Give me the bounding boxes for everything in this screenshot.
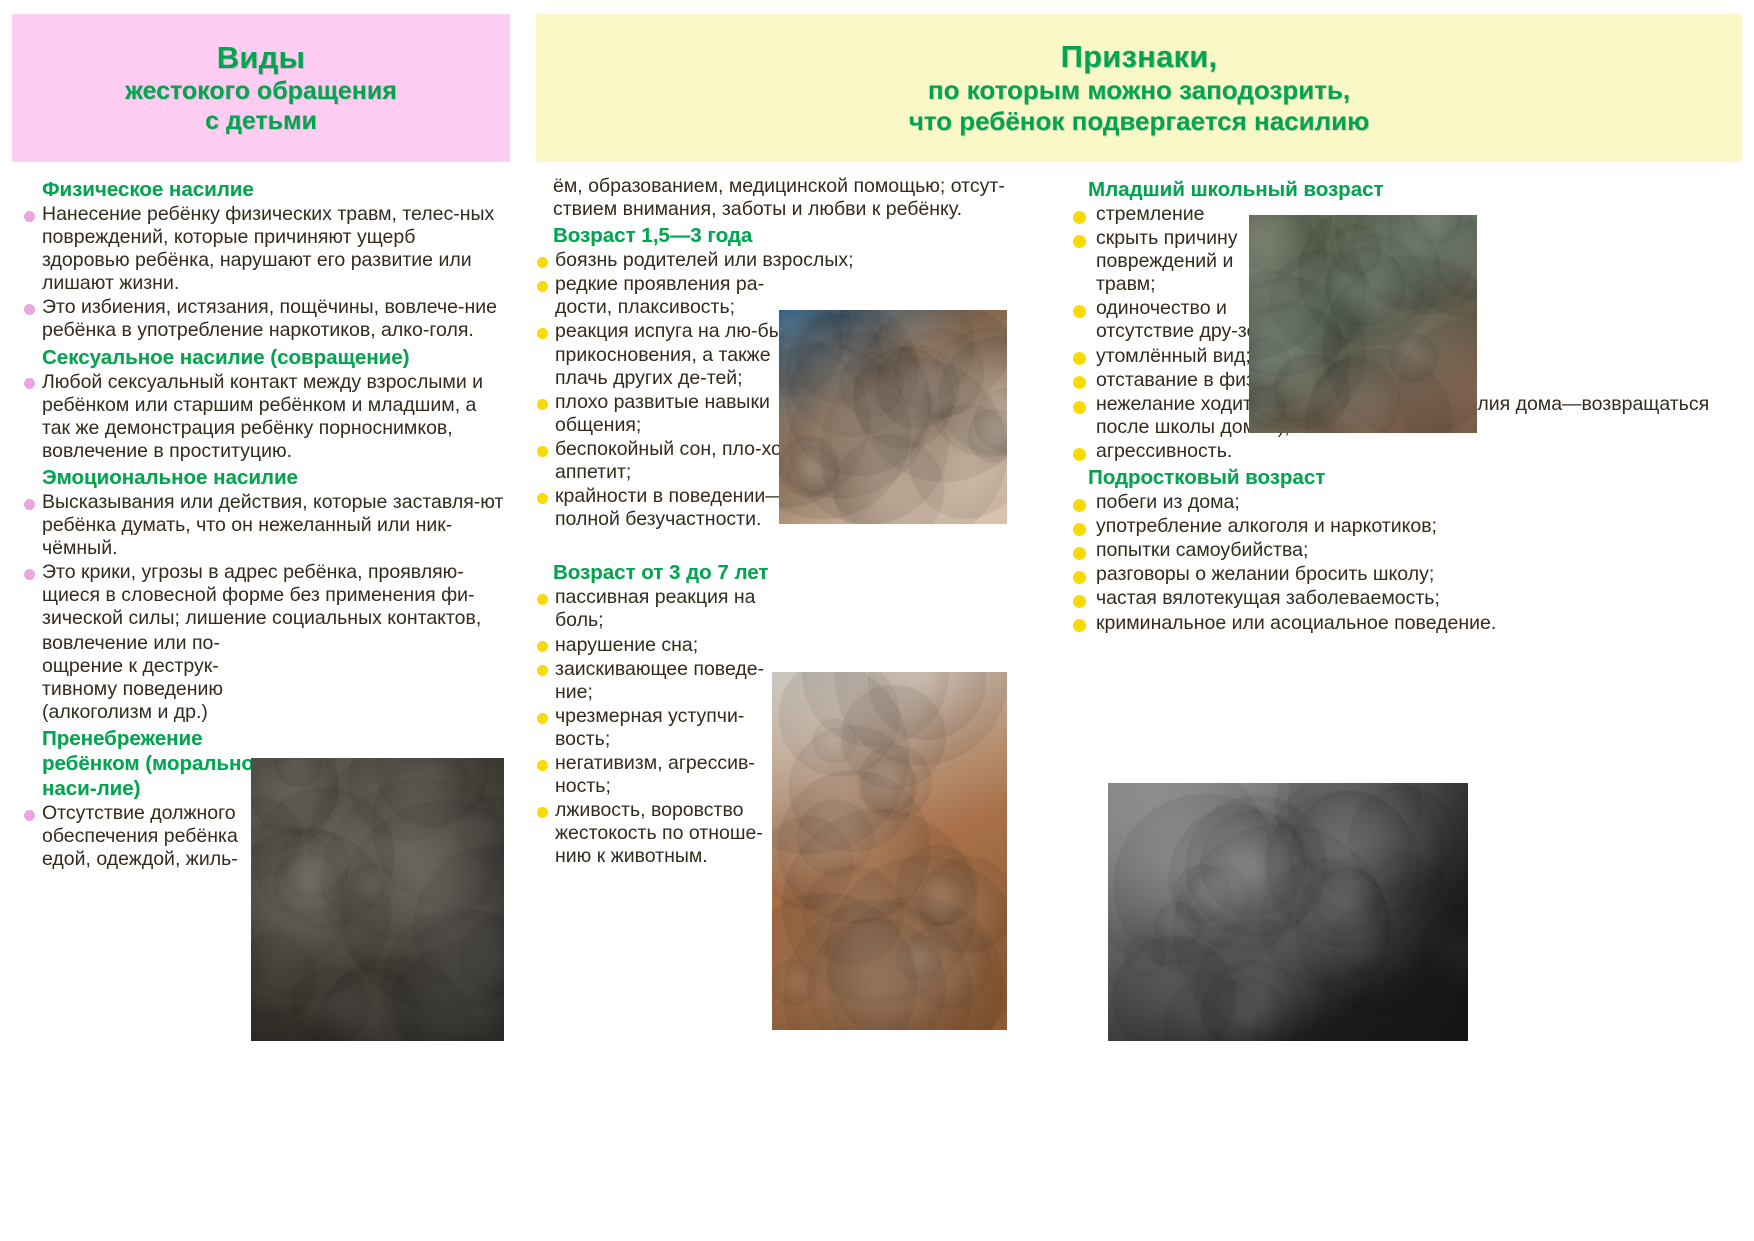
list-item-text: беспокойный сон, пло-хой аппетит;: [555, 438, 793, 483]
header-left-line1: Виды: [217, 40, 305, 76]
list-item-text: Это избиения, истязания, пощёчины, вовле…: [42, 296, 497, 341]
list-item: Нанесение ребёнку физических травм, теле…: [24, 203, 504, 295]
list-item-text: частая вялотекущая заболеваемость;: [1096, 587, 1440, 609]
list-item-text: плохо развитые навыки общения;: [555, 391, 770, 436]
bullet-dot-icon: [24, 211, 35, 222]
bullet-dot-icon: [537, 328, 548, 339]
bullet-dot-icon: [1073, 401, 1086, 414]
bullet-dot-icon: [1073, 499, 1086, 512]
bullet-dot-icon: [537, 446, 548, 457]
bullet-dot-icon: [537, 760, 548, 771]
list-item: Отсутствие должного обеспечения ребёнка …: [24, 802, 256, 871]
list-item: криминальное или асоциальное поведение.: [1070, 612, 1742, 635]
list-item-text: Отсутствие должного обеспечения ребёнка …: [42, 802, 238, 870]
list-item: Это избиения, истязания, пощёчины, вовле…: [24, 296, 504, 342]
list-item: Высказывания или действия, которые заста…: [24, 491, 504, 560]
list-item-text: Высказывания или действия, которые заста…: [42, 491, 503, 559]
photo-girl-face-closeup: [779, 310, 1007, 524]
list-item-text: Это крики, угрозы в адрес ребёнка, прояв…: [42, 561, 481, 629]
list-item-text: побеги из дома;: [1096, 491, 1240, 513]
list-item: реакция испуга на лю-бые прикосновения, …: [537, 320, 807, 389]
header-left-line3: с детьми: [205, 106, 317, 136]
section-title-teen-age: Подростковый возраст: [1088, 465, 1742, 490]
list-item: пассивная реакция на боль;: [537, 586, 789, 632]
header-right-line2: по которым можно заподозрить,: [928, 75, 1350, 106]
bullet-dot-icon: [537, 594, 548, 605]
list-item: негативизм, агрессив-ность;: [537, 752, 789, 798]
list-item: боязнь родителей или взрослых;: [537, 249, 1007, 272]
list-emotional-abuse: Высказывания или действия, которые заста…: [24, 491, 504, 631]
list-item-text: одиночество и отсутствие дру-зей;: [1096, 297, 1274, 342]
bullet-dot-icon: [537, 665, 548, 676]
list-neglect: Отсутствие должного обеспечения ребёнка …: [24, 802, 256, 871]
header-panel-signs: Признаки, по которым можно заподозрить, …: [536, 14, 1742, 162]
section-title-age-3-to-7: Возраст от 3 до 7 лет: [553, 560, 1007, 585]
bullet-dot-icon: [537, 641, 548, 652]
list-item-text: заискивающее поведе-ние;: [555, 658, 764, 703]
bullet-dot-icon: [24, 378, 35, 389]
photo-boy-black-white: [1108, 783, 1468, 1041]
section-title-emotional-abuse: Эмоциональное насилие: [42, 465, 504, 490]
list-item-text: употребление алкоголя и наркотиков;: [1096, 515, 1437, 537]
bullet-dot-icon: [1073, 619, 1086, 632]
section-title-neglect: Пренебрежение ребёнком (моральное наси-л…: [42, 726, 274, 801]
bullet-dot-icon: [1073, 211, 1086, 224]
bullet-dot-icon: [1073, 376, 1086, 389]
emotional-abuse-continuation: вовлечение или по-ощрение к деструк-тивн…: [24, 632, 260, 724]
list-item: нарушение сна;: [537, 634, 789, 657]
bullet-dot-icon: [24, 810, 35, 821]
list-item-text: стремление: [1096, 203, 1205, 225]
section-title-primary-school-age: Младший школьный возраст: [1088, 177, 1742, 202]
bullet-dot-icon: [537, 713, 548, 724]
section-spacer: [537, 532, 1007, 558]
list-item: Это крики, угрозы в адрес ребёнка, прояв…: [24, 561, 504, 630]
list-item: заискивающее поведе-ние;: [537, 658, 789, 704]
section-title-age-1-5-to-3: Возраст 1,5—3 года: [553, 223, 1007, 248]
bullet-dot-icon: [24, 304, 35, 315]
photo-girl-on-chair-with-toy: [772, 672, 1007, 1030]
bullet-dot-icon: [1073, 547, 1086, 560]
bullet-dot-icon: [24, 569, 35, 580]
section-title-physical-abuse: Физическое насилие: [42, 177, 504, 202]
photo-boy-head-on-arms: [1249, 215, 1477, 433]
bullet-dot-icon: [1073, 352, 1086, 365]
bullet-dot-icon: [24, 499, 35, 510]
list-item: лживость, воровство жестокость по отноше…: [537, 799, 789, 868]
list-item: употребление алкоголя и наркотиков;: [1070, 515, 1742, 538]
list-physical-abuse: Нанесение ребёнку физических травм, теле…: [24, 203, 504, 343]
bullet-dot-icon: [1073, 523, 1086, 536]
list-item: редкие проявления ра-дости, плаксивость;: [537, 273, 807, 319]
list-item-text: утомлённый вид;: [1096, 345, 1251, 367]
bullet-dot-icon: [537, 807, 548, 818]
neglect-continuation-text: ём, образованием, медицинской помощью; о…: [537, 175, 1007, 221]
header-right-line3: что ребёнок подвергается насилию: [909, 106, 1370, 137]
list-item: агрессивность.: [1070, 440, 1742, 463]
list-item-text: Нанесение ребёнку физических травм, теле…: [42, 203, 494, 294]
list-sexual-abuse: Любой сексуальный контакт между взрослым…: [24, 371, 504, 463]
list-item: разговоры о желании бросить школу;: [1070, 563, 1742, 586]
list-item-text: негативизм, агрессив-ность;: [555, 752, 755, 797]
bullet-dot-icon: [537, 493, 548, 504]
bullet-dot-icon: [1073, 235, 1086, 248]
bullet-dot-icon: [537, 257, 548, 268]
list-item-text: попытки самоубийства;: [1096, 539, 1308, 561]
list-item-text: чрезмерная уступчи-вость;: [555, 705, 744, 750]
list-item-text: лживость, воровство жестокость по отноше…: [555, 799, 763, 867]
list-item: Любой сексуальный контакт между взрослым…: [24, 371, 504, 463]
bullet-dot-icon: [1073, 571, 1086, 584]
list-item: плохо развитые навыки общения;: [537, 391, 807, 437]
section-title-sexual-abuse: Сексуальное насилие (совращение): [42, 345, 504, 370]
header-right-line1: Признаки,: [1061, 39, 1218, 75]
list-teen-age: побеги из дома; употребление алкоголя и …: [1070, 491, 1742, 635]
list-item-text: криминальное или асоциальное поведение.: [1096, 612, 1496, 634]
list-item-text: редкие проявления ра-дости, плаксивость;: [555, 273, 764, 318]
bullet-dot-icon: [1073, 448, 1086, 461]
list-item-text: скрыть причину повреждений и травм;: [1096, 227, 1238, 295]
list-item: побеги из дома;: [1070, 491, 1742, 514]
list-item-text: Любой сексуальный контакт между взрослым…: [42, 371, 483, 462]
list-item-text: разговоры о желании бросить школу;: [1096, 563, 1434, 585]
header-left-line2: жестокого обращения: [125, 76, 397, 106]
bullet-dot-icon: [1073, 305, 1086, 318]
list-item: частая вялотекущая заболеваемость;: [1070, 587, 1742, 610]
bullet-dot-icon: [537, 281, 548, 292]
list-item-text: пассивная реакция на боль;: [555, 586, 755, 631]
bullet-dot-icon: [537, 399, 548, 410]
list-item-text: боязнь родителей или взрослых;: [555, 249, 854, 271]
header-panel-types: Виды жестокого обращения с детьми: [12, 14, 510, 162]
list-item: беспокойный сон, пло-хой аппетит;: [537, 438, 807, 484]
list-item-text: нарушение сна;: [555, 634, 698, 656]
list-item: чрезмерная уступчи-вость;: [537, 705, 789, 751]
list-item-text: реакция испуга на лю-бые прикосновения, …: [555, 320, 794, 388]
photo-child-corner-money: [251, 758, 504, 1041]
list-item: попытки самоубийства;: [1070, 539, 1742, 562]
list-item-text: агрессивность.: [1096, 440, 1232, 462]
bullet-dot-icon: [1073, 595, 1086, 608]
list-age-3-to-7: пассивная реакция на боль; нарушение сна…: [537, 586, 789, 868]
